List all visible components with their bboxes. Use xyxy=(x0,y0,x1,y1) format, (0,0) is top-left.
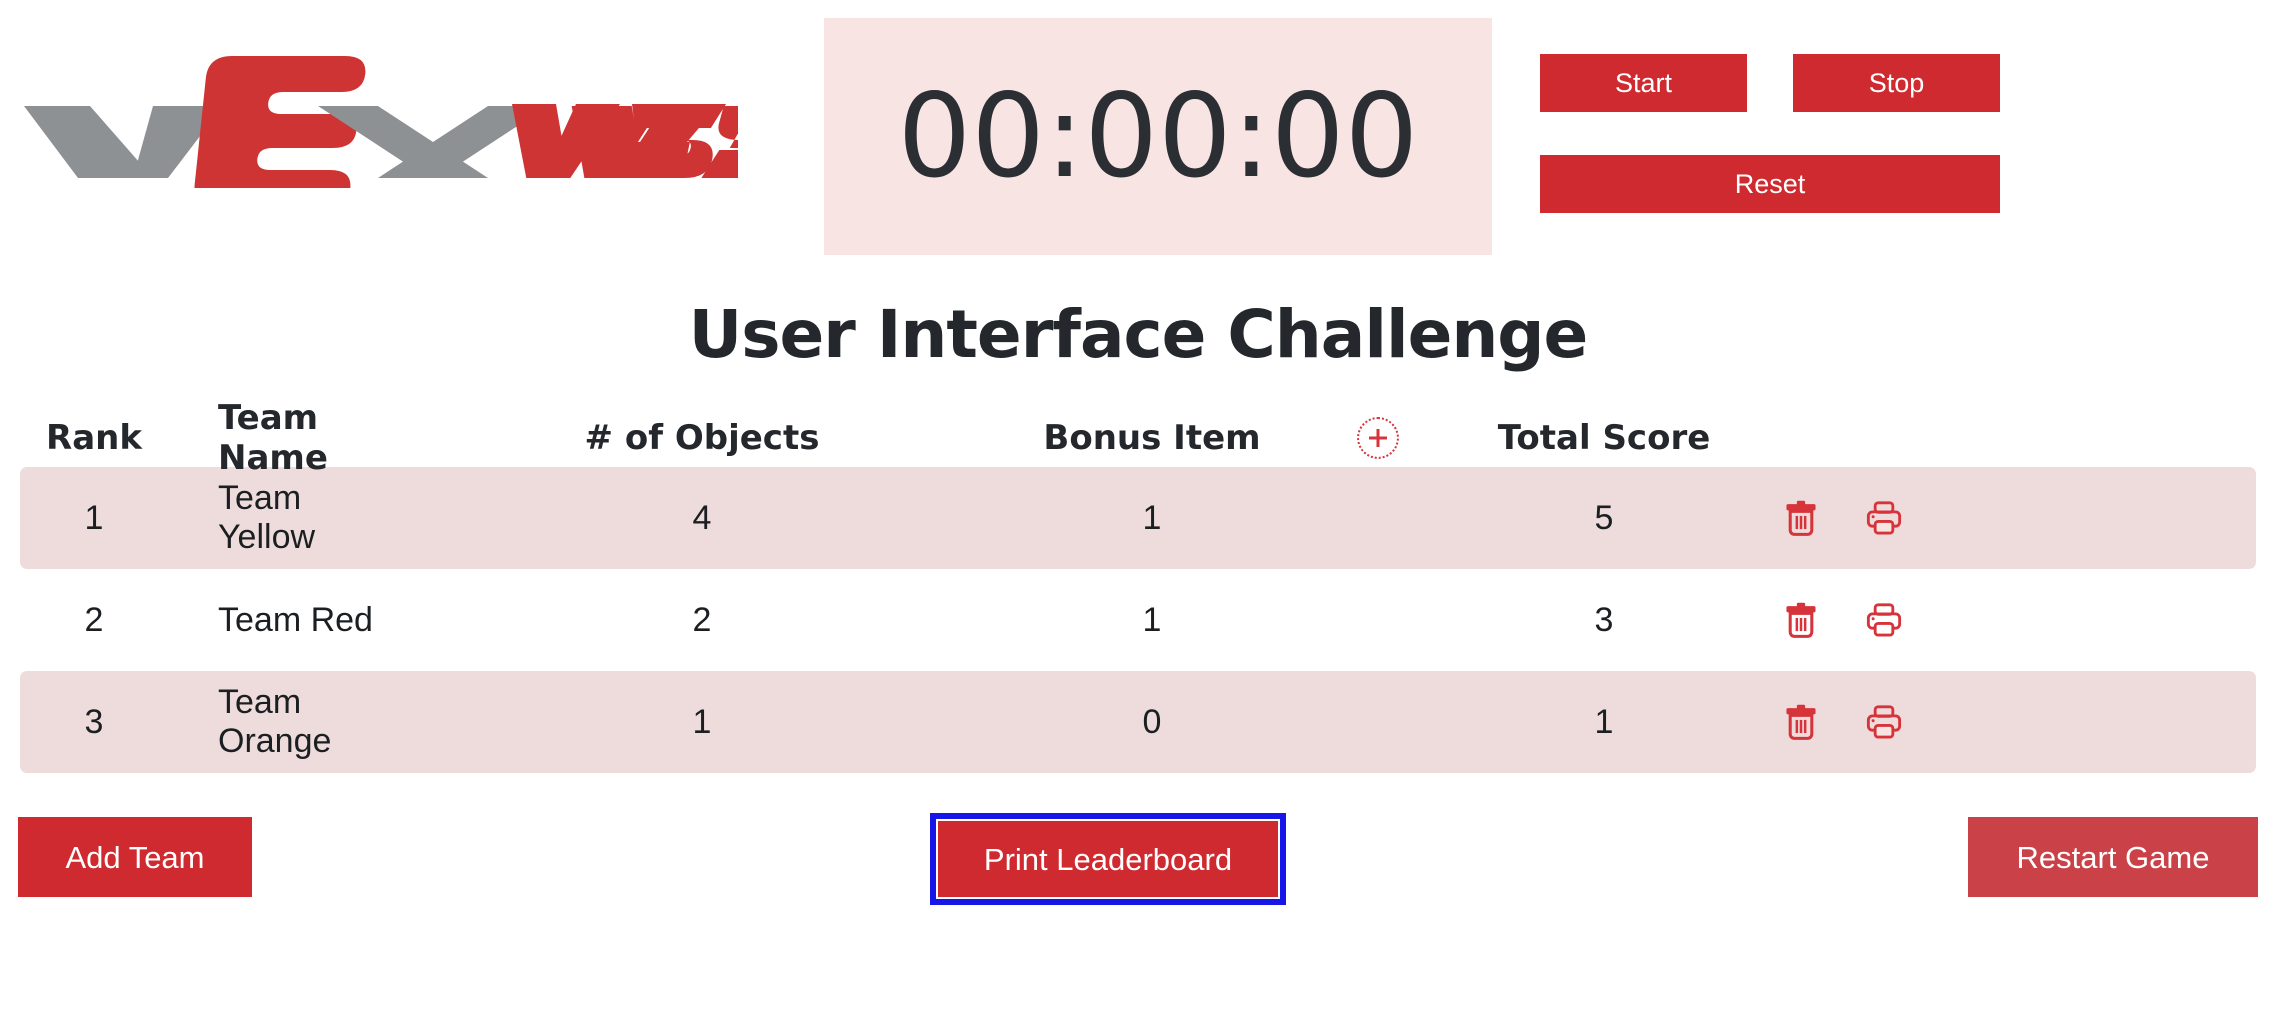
add-column-icon[interactable] xyxy=(1357,417,1399,459)
cell-total: 1 xyxy=(1474,703,1734,742)
print-leaderboard-focus-ring: Print Leaderboard xyxy=(930,813,1286,905)
column-header-rank: Rank xyxy=(20,418,168,458)
table-row[interactable]: 3 Team Orange 1 0 1 xyxy=(20,671,2256,773)
cell-objects[interactable]: 4 xyxy=(382,499,1022,538)
vex-v5-logo xyxy=(18,48,738,188)
leaderboard-table: Rank Team Name # of Objects Bonus Item T… xyxy=(0,409,2276,773)
cell-bonus[interactable]: 1 xyxy=(1022,499,1282,538)
restart-game-button[interactable]: Restart Game xyxy=(1968,817,2258,897)
cell-actions xyxy=(1734,602,2256,638)
cell-actions xyxy=(1734,704,2256,740)
cell-bonus[interactable]: 0 xyxy=(1022,703,1282,742)
timer-value: 00:00:00 xyxy=(898,79,1419,195)
footer-actions: Add Team Print Leaderboard Restart Game xyxy=(0,801,2276,911)
cell-bonus[interactable]: 1 xyxy=(1022,601,1282,640)
add-team-button[interactable]: Add Team xyxy=(18,817,252,897)
cell-objects[interactable]: 2 xyxy=(382,601,1022,640)
print-leaderboard-button[interactable]: Print Leaderboard xyxy=(938,821,1278,897)
cell-total: 3 xyxy=(1474,601,1734,640)
print-row-button[interactable] xyxy=(1866,705,1902,739)
column-header-bonus: Bonus Item xyxy=(1022,418,1282,458)
header-bar: 00:00:00 Start Stop Reset xyxy=(0,0,2276,268)
table-row[interactable]: 2 Team Red 2 1 3 xyxy=(20,569,2256,671)
reset-button[interactable]: Reset xyxy=(1540,155,2000,213)
start-button[interactable]: Start xyxy=(1540,54,1747,112)
print-row-button[interactable] xyxy=(1866,501,1902,535)
column-header-team-name: Team Name xyxy=(168,398,382,478)
cell-rank: 1 xyxy=(20,499,168,538)
delete-row-button[interactable] xyxy=(1784,602,1818,638)
timer-display: 00:00:00 xyxy=(824,18,1492,255)
cell-team-name: Team Red xyxy=(168,601,382,640)
page-title: User Interface Challenge xyxy=(0,268,2276,373)
cell-actions xyxy=(1734,500,2256,536)
print-row-button[interactable] xyxy=(1866,603,1902,637)
add-column-cell xyxy=(1282,417,1474,460)
table-row[interactable]: 1 Team Yellow 4 1 5 xyxy=(20,467,2256,569)
column-header-total: Total Score xyxy=(1474,418,1734,458)
timer-controls: Start Stop Reset xyxy=(1540,54,2000,213)
stop-button[interactable]: Stop xyxy=(1793,54,2000,112)
cell-rank: 3 xyxy=(20,703,168,742)
cell-team-name: Team Orange xyxy=(168,683,382,761)
cell-rank: 2 xyxy=(20,601,168,640)
cell-objects[interactable]: 1 xyxy=(382,703,1022,742)
column-header-objects: # of Objects xyxy=(382,418,1022,458)
delete-row-button[interactable] xyxy=(1784,704,1818,740)
table-header-row: Rank Team Name # of Objects Bonus Item T… xyxy=(20,409,2256,467)
delete-row-button[interactable] xyxy=(1784,500,1818,536)
cell-team-name: Team Yellow xyxy=(168,479,382,557)
cell-total: 5 xyxy=(1474,499,1734,538)
